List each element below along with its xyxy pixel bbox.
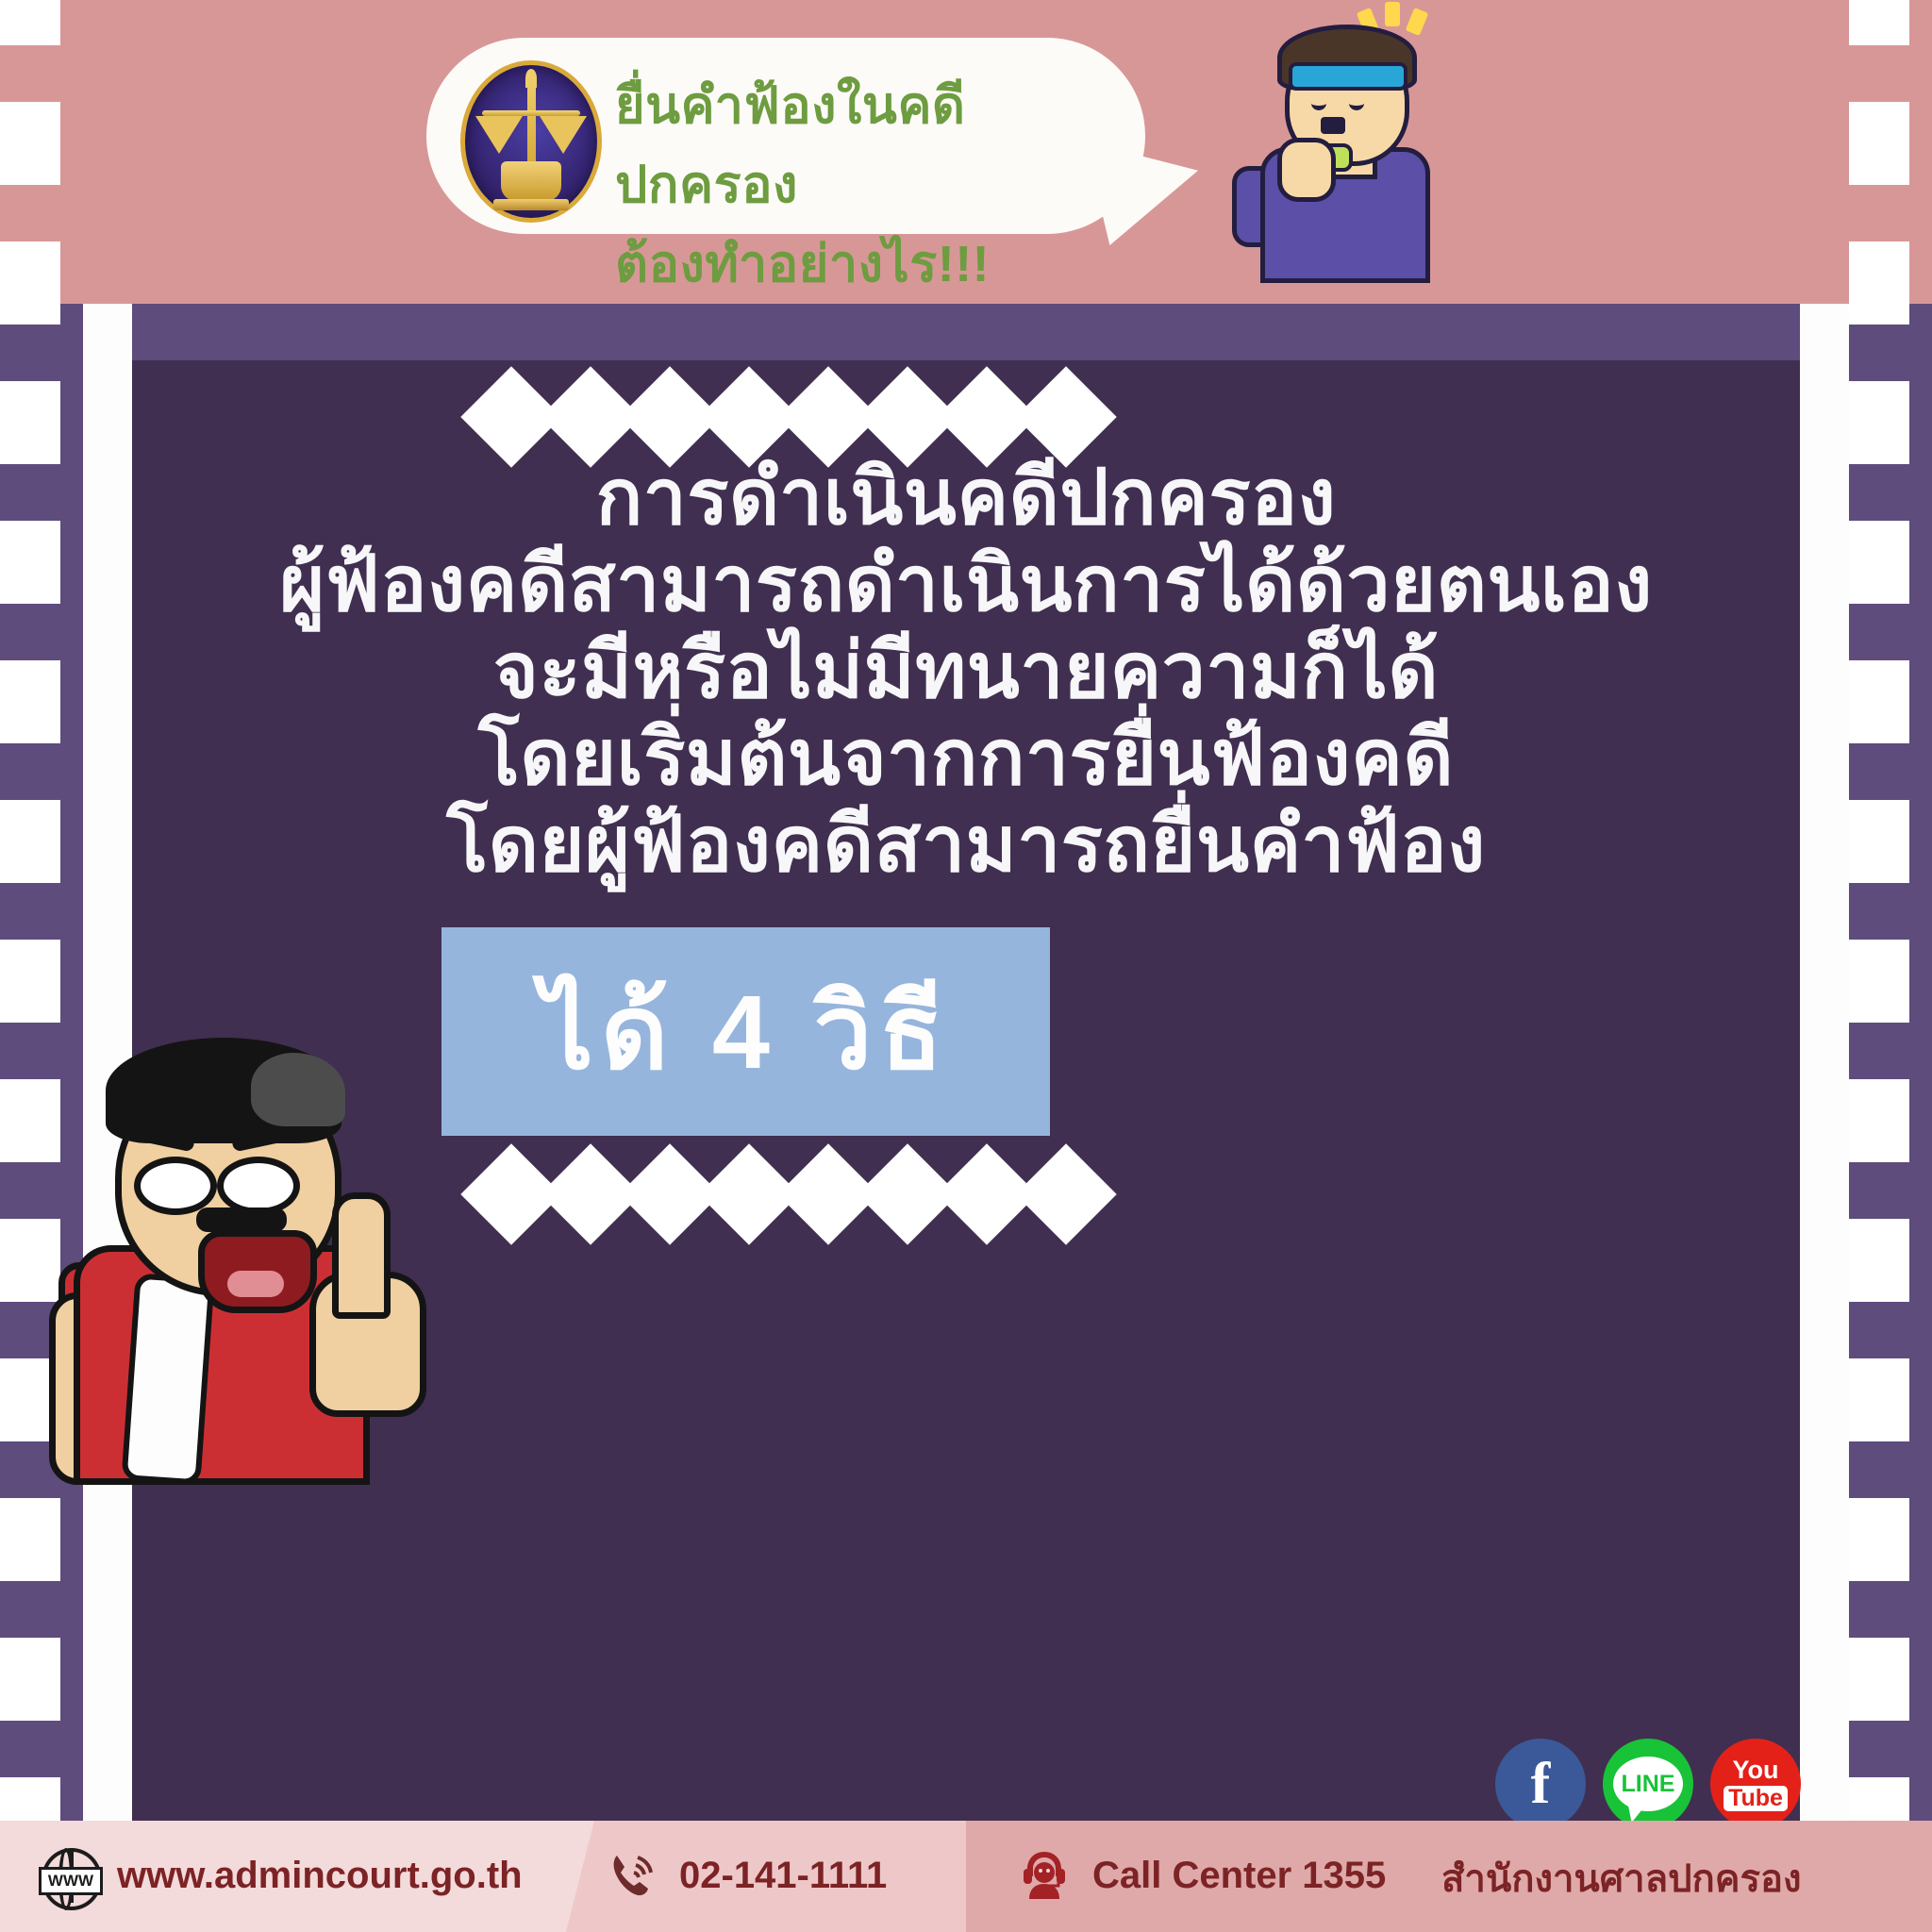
film-sprocket-hole bbox=[0, 0, 60, 45]
film-sprocket-hole bbox=[1849, 940, 1909, 1023]
film-strip-left bbox=[0, 0, 83, 1932]
film-sprocket-hole bbox=[1849, 1079, 1909, 1162]
header-line-1: ยื่นคำฟ้องในคดีปกครอง bbox=[615, 66, 1124, 225]
film-sprocket-hole bbox=[0, 660, 60, 743]
line-label: LINE bbox=[1622, 1771, 1675, 1798]
poster-root: ยื่นคำฟ้องในคดีปกครอง ต้องทำอย่างไร!!! ก… bbox=[0, 0, 1932, 1932]
header-speech-bubble: ยื่นคำฟ้องในคดีปกครอง ต้องทำอย่างไร!!! bbox=[426, 38, 1145, 234]
film-sprocket-hole bbox=[1849, 381, 1909, 464]
film-sprocket-hole bbox=[0, 1498, 60, 1581]
film-sprocket-hole bbox=[1849, 660, 1909, 743]
film-sprocket-hole bbox=[0, 1219, 60, 1302]
film-sprocket-hole bbox=[0, 1079, 60, 1162]
film-sprocket-hole bbox=[0, 381, 60, 464]
film-sprocket-hole bbox=[0, 800, 60, 883]
header-line-2: ต้องทำอย่างไร!!! bbox=[615, 225, 1124, 304]
youtube-label-bottom: Tube bbox=[1724, 1786, 1788, 1811]
call-center-label: Call Center 1355 bbox=[1092, 1855, 1386, 1897]
film-strip-right bbox=[1849, 0, 1932, 1932]
film-sprocket-hole bbox=[0, 521, 60, 604]
film-sprocket-hole bbox=[1849, 102, 1909, 185]
globe-icon: WWW bbox=[42, 1848, 96, 1903]
main-text-line-1: การดำเนินคดีปกครอง bbox=[132, 455, 1800, 541]
footer-organization: สำนักงานศาลปกครอง bbox=[1441, 1848, 1802, 1908]
footer-website[interactable]: WWW www.admincourt.go.th bbox=[42, 1848, 523, 1903]
film-sprocket-hole bbox=[0, 102, 60, 185]
youtube-label-top: You bbox=[1733, 1757, 1779, 1783]
film-sprocket-hole bbox=[1849, 1358, 1909, 1441]
film-sprocket-hole bbox=[1849, 0, 1909, 45]
diamond-row-top bbox=[472, 381, 1106, 453]
phone-label: 02-141-1111 bbox=[679, 1855, 887, 1897]
diamond-shape bbox=[1015, 1143, 1116, 1244]
film-sprocket-hole bbox=[0, 1638, 60, 1721]
organization-label: สำนักงานศาลปกครอง bbox=[1441, 1848, 1802, 1908]
highlight-label: ได้ 4 วิธี bbox=[441, 927, 1050, 1136]
film-sprocket-hole bbox=[1849, 800, 1909, 883]
film-sprocket-hole bbox=[1849, 521, 1909, 604]
main-text-line-5: โดยผู้ฟ้องคดีสามารถยื่นคำฟ้อง bbox=[132, 802, 1800, 889]
header-text-block: ยื่นคำฟ้องในคดีปกครอง ต้องทำอย่างไร!!! bbox=[615, 66, 1124, 304]
main-text-line-3: จะมีหรือไม่มีทนายความก็ได้ bbox=[132, 628, 1800, 715]
main-text-line-4: โดยเริ่มต้นจากการยื่นฟ้องคดี bbox=[132, 715, 1800, 802]
website-label: www.admincourt.go.th bbox=[117, 1855, 523, 1897]
rail-right bbox=[1800, 304, 1849, 1821]
phone-icon bbox=[604, 1848, 658, 1903]
main-text-line-2: ผู้ฟ้องคดีสามารถดำเนินการได้ด้วยตนเอง bbox=[132, 541, 1800, 628]
line-icon[interactable]: LINE bbox=[1603, 1739, 1693, 1829]
facebook-icon[interactable]: f bbox=[1495, 1739, 1586, 1829]
film-sprocket-hole bbox=[1849, 1638, 1909, 1721]
main-text-block: การดำเนินคดีปกครองผู้ฟ้องคดีสามารถดำเนิน… bbox=[132, 455, 1800, 889]
film-sprocket-hole bbox=[1849, 1498, 1909, 1581]
film-sprocket-hole bbox=[1849, 241, 1909, 325]
facebook-label: f bbox=[1531, 1751, 1551, 1818]
diamond-shape bbox=[1015, 366, 1116, 467]
footer-phone[interactable]: 02-141-1111 bbox=[604, 1848, 887, 1903]
social-links: f LINE You Tube bbox=[1495, 1739, 1801, 1829]
youtube-icon[interactable]: You Tube bbox=[1710, 1739, 1801, 1829]
film-sprocket-hole bbox=[0, 940, 60, 1023]
footer-call-center[interactable]: Call Center 1355 bbox=[1017, 1848, 1386, 1903]
headset-operator-icon bbox=[1017, 1848, 1072, 1903]
pointing-man-illustration bbox=[57, 1028, 453, 1472]
film-sprocket-hole bbox=[1849, 1219, 1909, 1302]
film-sprocket-hole bbox=[0, 241, 60, 325]
whistle-man-illustration bbox=[1198, 0, 1481, 274]
scales-of-justice-seal-icon bbox=[460, 60, 602, 223]
highlight-box: ได้ 4 วิธี bbox=[441, 927, 1050, 1136]
diamond-row-bottom bbox=[472, 1158, 1106, 1230]
